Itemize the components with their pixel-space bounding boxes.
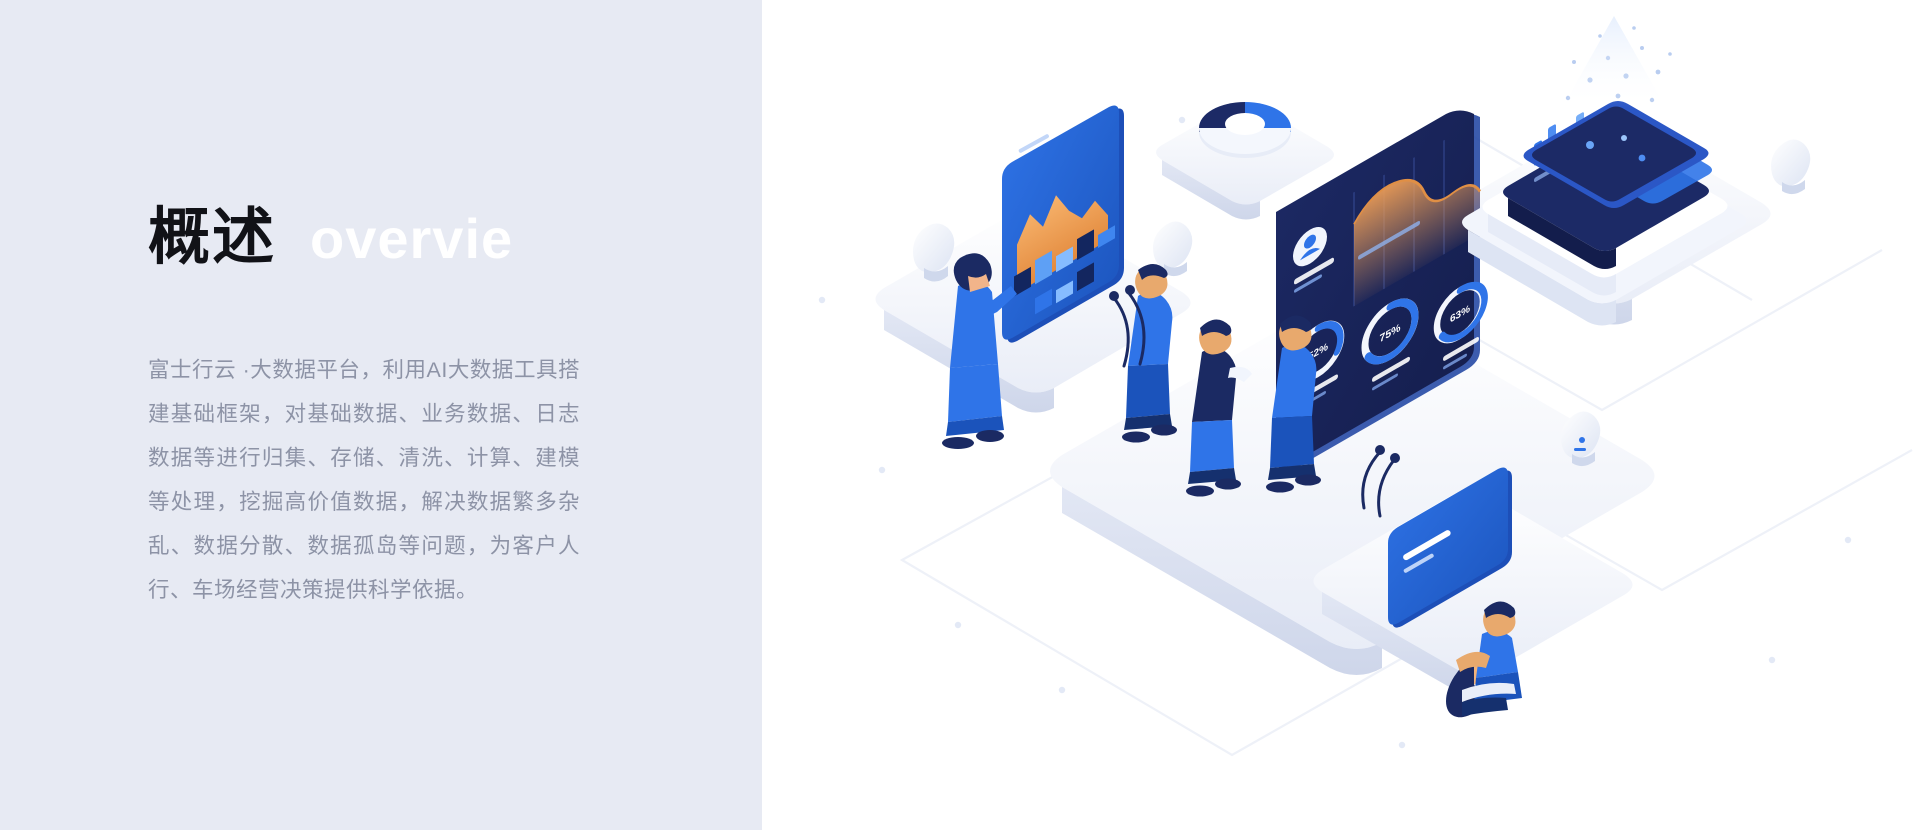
donut-chart-3d [1199, 102, 1291, 158]
slide-root: 概述 overvie 富士行云 ·大数据平台，利用AI大数据工具搭建基础框架，对… [0, 0, 1920, 830]
page-title-chinese: 概述 [148, 207, 276, 269]
illustration-panel: 52% 75% 63% [762, 0, 1920, 830]
overview-paragraph: 富士行云 ·大数据平台，利用AI大数据工具搭建基础框架，对基础数据、业务数据、日… [148, 348, 580, 612]
isometric-illustration: 52% 75% 63% [762, 0, 1920, 830]
page-title: 概述 overvie [148, 207, 513, 269]
panel-pie-legend [1408, 757, 1464, 823]
page-title-english: overvie [310, 211, 513, 267]
capsule-right [1771, 139, 1810, 194]
left-text-panel: 概述 overvie 富士行云 ·大数据平台，利用AI大数据工具搭建基础框架，对… [0, 0, 762, 830]
tower-stack [1462, 16, 1746, 326]
